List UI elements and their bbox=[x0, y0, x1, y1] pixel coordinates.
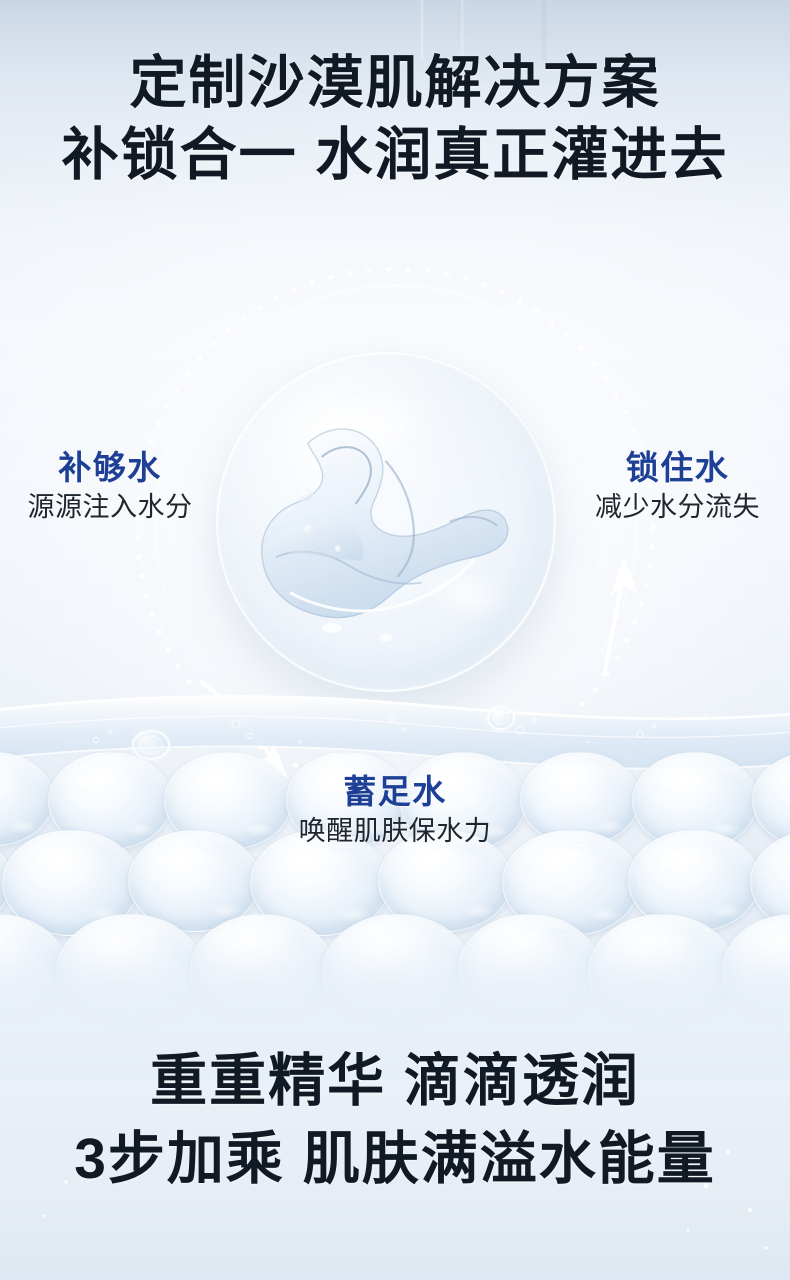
feature-left-subtitle: 源源注入水分 bbox=[0, 490, 220, 524]
arrow-up-icon bbox=[576, 526, 656, 676]
feature-right-title: 锁住水 bbox=[565, 448, 790, 488]
capsule bbox=[752, 752, 790, 848]
feature-bottom-title: 蓄足水 bbox=[230, 772, 560, 812]
headline-top-line2: 补锁合一 水润真正灌进去 bbox=[0, 122, 790, 188]
feature-right-subtitle: 减少水分流失 bbox=[565, 490, 790, 524]
feature-bottom: 蓄足水 唤醒肌肤保水力 bbox=[230, 772, 560, 848]
feature-right: 锁住水 减少水分流失 bbox=[565, 448, 790, 524]
poster-canvas: 定制沙漠肌解决方案 补锁合一 水润真正灌进去 补够水 源源注入水分 锁住水 减少… bbox=[0, 0, 790, 1280]
headline-bottom-line2: 3步加乘 肌肤满溢水能量 bbox=[0, 1126, 790, 1192]
water-droplet bbox=[335, 546, 341, 552]
feature-left-title: 补够水 bbox=[0, 448, 220, 488]
headline-bottom-line1: 重重精华 滴滴透润 bbox=[0, 1048, 790, 1114]
headline-top-line1: 定制沙漠肌解决方案 bbox=[0, 50, 790, 116]
feature-left: 补够水 源源注入水分 bbox=[0, 448, 220, 524]
feature-bottom-subtitle: 唤醒肌肤保水力 bbox=[230, 814, 560, 848]
water-droplet bbox=[298, 488, 313, 503]
glass-sphere bbox=[216, 352, 556, 692]
water-splash-icon bbox=[236, 400, 535, 665]
